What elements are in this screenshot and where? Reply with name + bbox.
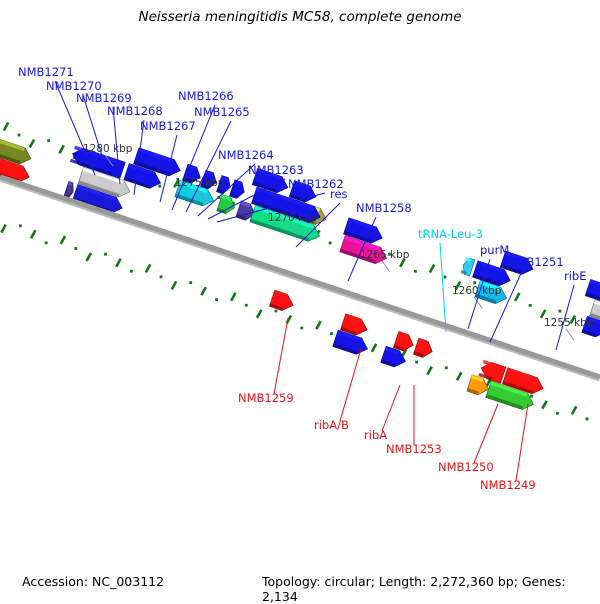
tick-mark bbox=[257, 310, 261, 318]
tick-mark bbox=[515, 293, 519, 301]
tick-mark bbox=[201, 287, 205, 295]
ruler-tick-label: 1255 kbp bbox=[544, 317, 594, 329]
tick-mark bbox=[457, 372, 461, 380]
tick-mark bbox=[586, 417, 589, 420]
genome-viewer: Neisseria meningitidis MC58, complete ge… bbox=[0, 0, 600, 600]
label-leader-line bbox=[382, 385, 400, 431]
tick-mark bbox=[572, 406, 576, 414]
gene-label[interactable]: NMB1251 bbox=[508, 255, 564, 269]
tick-mark bbox=[116, 259, 120, 267]
gene-label[interactable]: NMB1267 bbox=[140, 119, 196, 133]
tick-mark bbox=[414, 270, 417, 273]
ruler-tick-label: 1280 kbp bbox=[83, 143, 133, 155]
tick-mark bbox=[529, 304, 532, 307]
tick-mark bbox=[158, 185, 161, 188]
gene-label[interactable]: NMB1269 bbox=[76, 91, 132, 105]
tick-mark bbox=[19, 224, 22, 227]
gene-label[interactable]: NMB1263 bbox=[248, 163, 304, 177]
gene-label[interactable]: NMB1266 bbox=[178, 89, 234, 103]
tick-mark bbox=[372, 344, 376, 352]
tick-mark bbox=[1, 225, 5, 233]
tick-mark bbox=[445, 366, 448, 369]
tick-mark bbox=[530, 395, 533, 398]
gene-label[interactable]: NMB1259 bbox=[238, 391, 294, 405]
tick-mark bbox=[215, 298, 218, 301]
tick-mark bbox=[542, 401, 546, 409]
gene-red-4[interactable] bbox=[393, 331, 413, 350]
tick-mark bbox=[160, 275, 163, 278]
tick-mark bbox=[329, 242, 332, 245]
tick-mark bbox=[316, 321, 320, 329]
tick-mark bbox=[245, 304, 248, 307]
gene-label[interactable]: purM bbox=[480, 243, 509, 257]
label-leader-line bbox=[274, 318, 288, 394]
tick-mark bbox=[430, 264, 434, 272]
ruler-tick-leader bbox=[566, 329, 574, 340]
label-leader-line bbox=[516, 404, 528, 481]
gene-label[interactable]: NMB1258 bbox=[356, 201, 412, 215]
tick-mark bbox=[300, 327, 303, 330]
tick-mark bbox=[231, 293, 235, 301]
status-bar: Accession: NC_003112 Topology: circular;… bbox=[0, 566, 600, 600]
gene-red-2[interactable] bbox=[269, 290, 293, 310]
gene-label[interactable]: NMB1265 bbox=[194, 105, 250, 119]
tick-mark bbox=[274, 310, 277, 313]
tick-mark bbox=[30, 140, 34, 148]
tick-mark bbox=[4, 122, 8, 130]
tick-mark bbox=[61, 236, 65, 244]
ruler-tick-label: 1270 kbp bbox=[268, 212, 318, 224]
label-leader-line bbox=[474, 404, 498, 463]
accession-text: Accession: NC_003112 bbox=[22, 574, 164, 589]
tick-mark bbox=[45, 241, 48, 244]
tick-mark bbox=[444, 276, 447, 279]
tick-mark bbox=[18, 134, 21, 137]
gene-red-5[interactable] bbox=[413, 338, 432, 357]
gene-label[interactable]: NMB1268 bbox=[107, 104, 163, 118]
tick-mark bbox=[189, 281, 192, 284]
tick-mark bbox=[87, 253, 91, 261]
tick-mark bbox=[74, 247, 77, 250]
gene-label[interactable]: NMB1271 bbox=[18, 65, 74, 79]
gene-label[interactable]: ribA bbox=[364, 428, 387, 442]
ruler-tick-label: 1265 kbp bbox=[360, 249, 410, 261]
tick-mark bbox=[415, 361, 418, 364]
tick-mark bbox=[473, 281, 476, 284]
tick-mark bbox=[558, 310, 561, 313]
gene-label[interactable]: NMB1249 bbox=[480, 478, 536, 492]
gene-label[interactable]: ribA/B bbox=[314, 418, 349, 432]
tick-mark bbox=[47, 139, 50, 142]
gene-red-3[interactable] bbox=[340, 314, 367, 335]
gene-label[interactable]: ribE bbox=[564, 269, 587, 283]
gene-cyan-trna[interactable] bbox=[461, 257, 475, 276]
label-leader-line bbox=[340, 349, 361, 421]
genome-map-canvas[interactable]: 1280 kbp1275 kbp1270 kbp1265 kbp1260 kbp… bbox=[0, 0, 600, 600]
tick-mark bbox=[130, 270, 133, 273]
tick-mark bbox=[31, 230, 35, 238]
tick-mark bbox=[427, 367, 431, 375]
gene-label[interactable]: NMB1264 bbox=[218, 148, 274, 162]
tick-mark bbox=[59, 145, 63, 153]
ruler-tick-leader bbox=[382, 261, 390, 272]
tick-mark bbox=[146, 264, 150, 272]
gene-label[interactable]: NMB1253 bbox=[386, 442, 442, 456]
tick-mark bbox=[104, 253, 107, 256]
gene-blue-16[interactable] bbox=[585, 279, 600, 300]
gene-label[interactable]: res bbox=[330, 187, 348, 201]
gene-blue-8[interactable] bbox=[230, 180, 245, 198]
gene-blue-18[interactable] bbox=[333, 330, 368, 354]
gene-label[interactable]: tRNA-Leu-3 bbox=[418, 227, 483, 241]
ruler-tick-label: 1260 kbp bbox=[452, 285, 502, 297]
tick-mark bbox=[330, 332, 333, 335]
tick-mark bbox=[556, 412, 559, 415]
tick-mark bbox=[172, 281, 176, 289]
gene-label[interactable]: NMB1250 bbox=[438, 460, 494, 474]
label-leader-line bbox=[440, 243, 446, 332]
gene-highlight bbox=[465, 257, 471, 262]
